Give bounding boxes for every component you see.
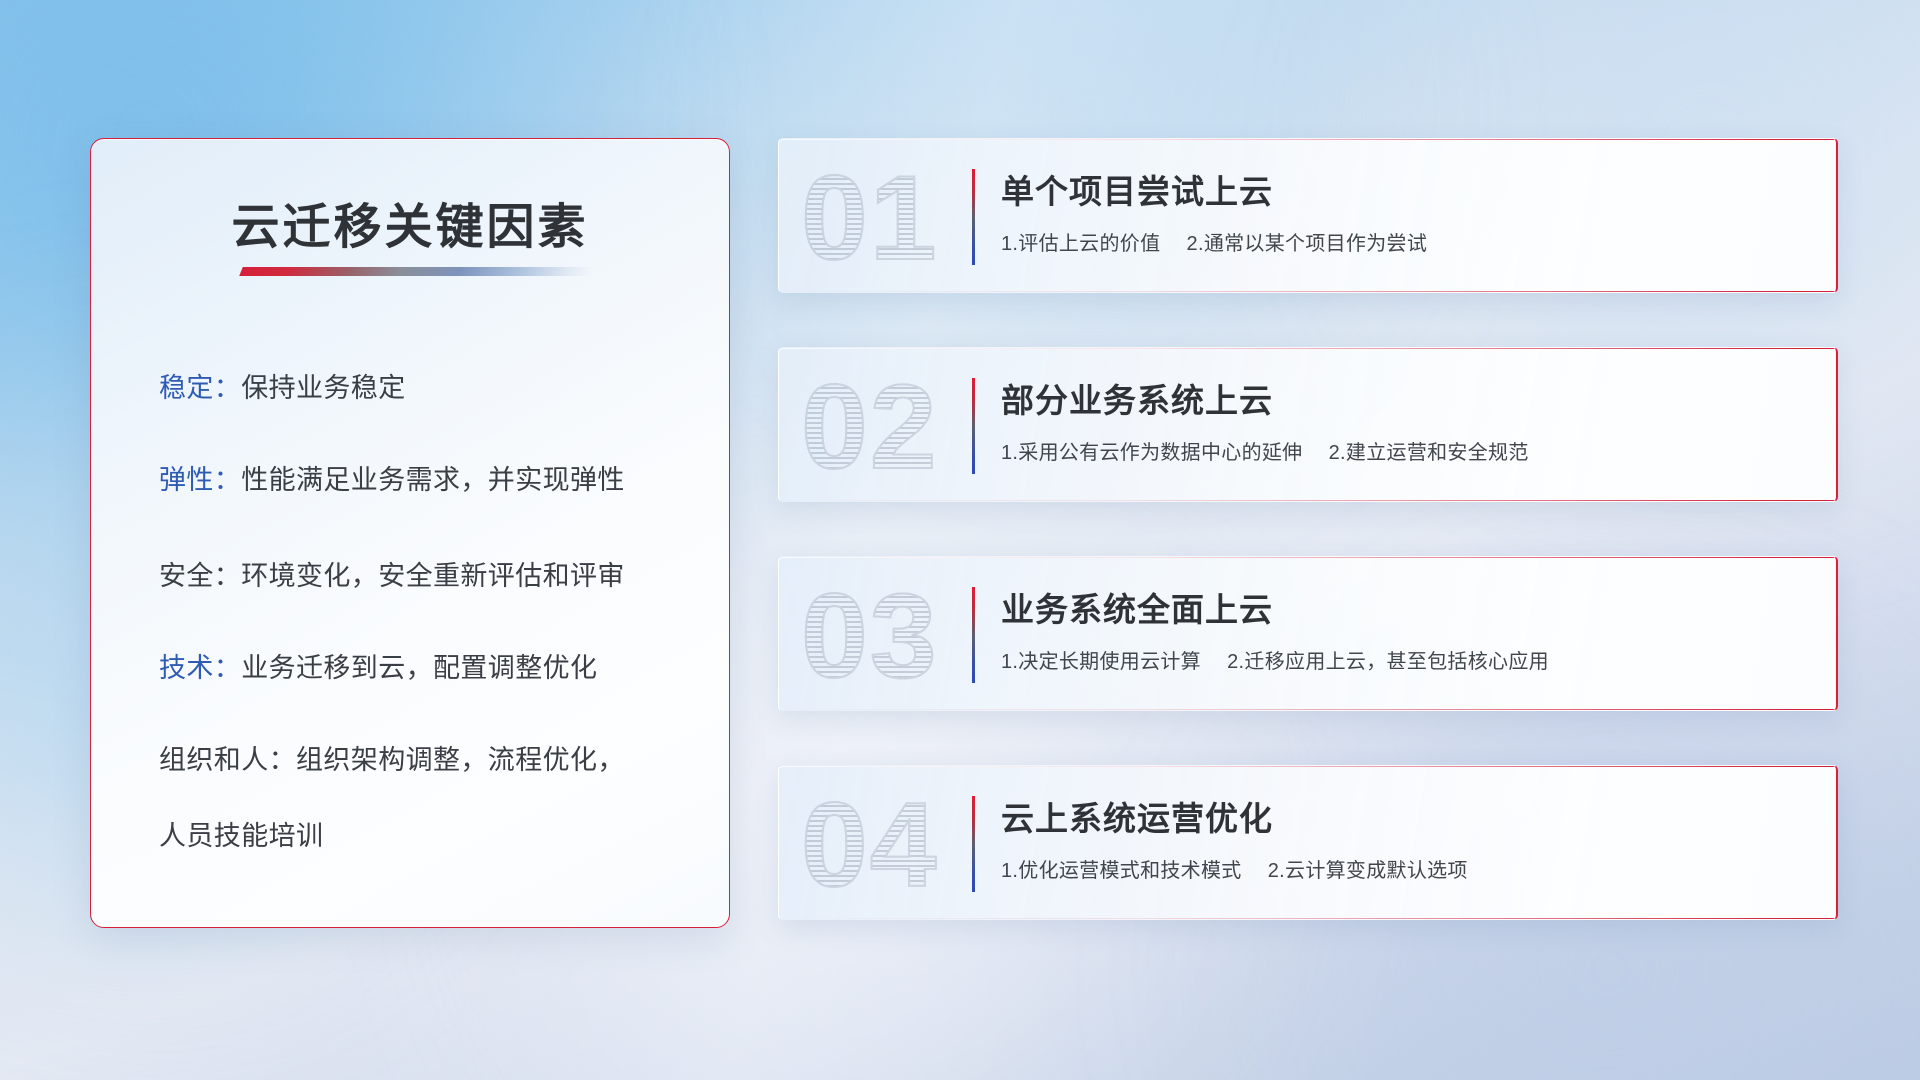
key-factor-value: 人员技能培训: [159, 821, 323, 851]
key-factor-row: 稳定：保持业务稳定: [159, 375, 406, 402]
step-divider-bar: [972, 796, 975, 892]
step-divider-bar: [972, 587, 975, 683]
step-number: 03: [801, 561, 938, 711]
step-title: 部分业务系统上云: [1001, 374, 1273, 422]
key-factor-row: 弹性：性能满足业务需求，并实现弹性: [159, 467, 625, 494]
step-number: 01: [801, 143, 938, 293]
key-factors-panel: 云迁移关键因素 稳定：保持业务稳定弹性：性能满足业务需求，并实现弹性安全：环境变…: [90, 138, 730, 928]
key-factor-row: 组织和人：组织架构调整，流程优化，: [159, 747, 625, 774]
key-factor-row: 技术：业务迁移到云，配置调整优化: [159, 655, 597, 682]
step-title: 单个项目尝试上云: [1001, 165, 1273, 213]
step-divider-bar: [972, 169, 975, 265]
step-divider-bar: [972, 378, 975, 474]
page-title: 云迁移关键因素: [91, 187, 729, 257]
key-factor-label: 弹性：: [159, 465, 241, 495]
key-factor-label: 技术：: [159, 653, 241, 683]
key-factor-value: 性能满足业务需求，并实现弹性: [241, 465, 625, 495]
step-description: 1.决定长期使用云计算 2.迁移应用上云，甚至包括核心应用: [1001, 645, 1549, 674]
step-description: 1.优化运营模式和技术模式 2.云计算变成默认选项: [1001, 854, 1468, 883]
key-factor-value: 保持业务稳定: [241, 373, 405, 403]
title-underline-rule: [239, 267, 595, 276]
migration-steps-list: 01单个项目尝试上云1.评估上云的价值 2.通常以某个项目作为尝试02部分业务系…: [778, 138, 1838, 974]
step-title: 业务系统全面上云: [1001, 583, 1273, 631]
migration-step-card[interactable]: 02部分业务系统上云1.采用公有云作为数据中心的延伸 2.建立运营和安全规范: [778, 347, 1838, 502]
key-factor-value: 环境变化，安全重新评估和评审: [241, 561, 625, 591]
key-factor-row: 安全：环境变化，安全重新评估和评审: [159, 563, 625, 590]
key-factor-label: 安全：: [159, 561, 241, 591]
migration-step-card[interactable]: 03业务系统全面上云1.决定长期使用云计算 2.迁移应用上云，甚至包括核心应用: [778, 556, 1838, 711]
slide-stage: 云迁移关键因素 稳定：保持业务稳定弹性：性能满足业务需求，并实现弹性安全：环境变…: [0, 0, 1920, 1080]
step-number: 04: [801, 770, 938, 920]
migration-step-card[interactable]: 04云上系统运营优化1.优化运营模式和技术模式 2.云计算变成默认选项: [778, 765, 1838, 920]
key-factor-label: 组织和人：: [159, 745, 296, 775]
key-factor-row: 人员技能培训: [159, 823, 323, 850]
migration-step-card[interactable]: 01单个项目尝试上云1.评估上云的价值 2.通常以某个项目作为尝试: [778, 138, 1838, 293]
key-factor-label: 稳定：: [159, 373, 241, 403]
step-title: 云上系统运营优化: [1001, 792, 1273, 840]
key-factor-value: 业务迁移到云，配置调整优化: [241, 653, 597, 683]
step-number: 02: [801, 352, 938, 502]
step-description: 1.采用公有云作为数据中心的延伸 2.建立运营和安全规范: [1001, 436, 1529, 465]
step-description: 1.评估上云的价值 2.通常以某个项目作为尝试: [1001, 227, 1427, 256]
key-factor-value: 组织架构调整，流程优化，: [296, 745, 625, 775]
